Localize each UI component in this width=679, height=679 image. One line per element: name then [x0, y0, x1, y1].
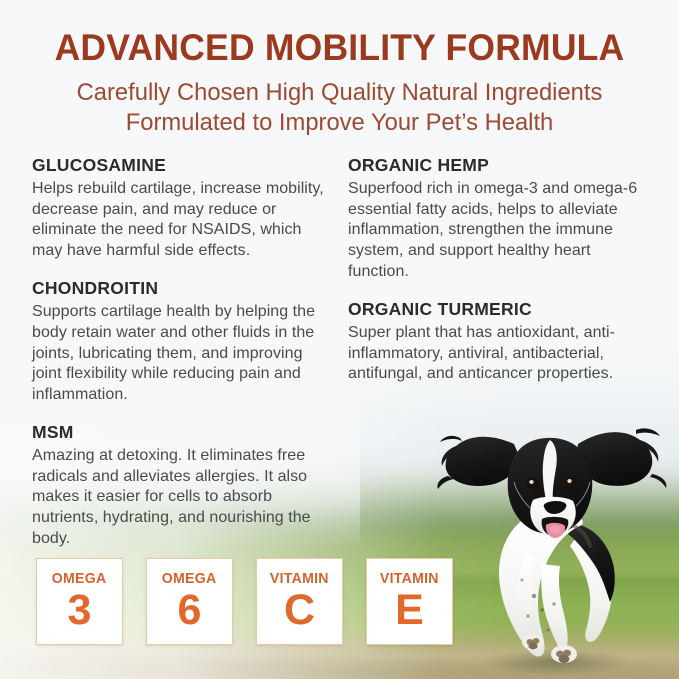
badge-vitamin-c: VITAMIN C: [256, 558, 343, 645]
ingredient-heading: ORGANIC TURMERIC: [348, 299, 648, 321]
ingredient-heading: CHONDROITIN: [32, 278, 324, 300]
badge-value: 3: [68, 589, 92, 632]
ingredient-body: Amazing at detoxing. It eliminates free …: [32, 446, 324, 550]
subtitle-line-1: Carefully Chosen High Quality Natural In…: [10, 78, 669, 108]
ingredient-organic-hemp: ORGANIC HEMP Superfood rich in omega-3 a…: [348, 155, 648, 283]
page-subtitle: Carefully Chosen High Quality Natural In…: [10, 78, 669, 138]
ingredient-body: Supports cartilage health by helping the…: [32, 302, 324, 406]
ingredient-chondroitin: CHONDROITIN Supports cartilage health by…: [32, 278, 324, 406]
badge-vitamin-e: VITAMIN E: [366, 558, 453, 645]
ingredient-heading: GLUCOSAMINE: [32, 155, 324, 177]
ingredient-body: Helps rebuild cartilage, increase mobili…: [32, 179, 324, 262]
page-title: ADVANCED MOBILITY FORMULA: [14, 28, 666, 67]
headline-block: ADVANCED MOBILITY FORMULA Carefully Chos…: [0, 28, 679, 138]
badge-omega-3: OMEGA 3: [36, 558, 123, 645]
product-infographic: ADVANCED MOBILITY FORMULA Carefully Chos…: [0, 0, 679, 679]
ingredient-heading: ORGANIC HEMP: [348, 155, 648, 177]
badge-label: VITAMIN: [380, 571, 439, 586]
badge-omega-6: OMEGA 6: [146, 558, 233, 645]
ingredient-glucosamine: GLUCOSAMINE Helps rebuild cartilage, inc…: [32, 155, 324, 262]
badge-value: 6: [178, 589, 202, 632]
left-column: GLUCOSAMINE Helps rebuild cartilage, inc…: [32, 155, 324, 550]
ingredient-body: Superfood rich in omega-3 and omega-6 es…: [348, 179, 648, 283]
ingredient-body: Super plant that has antioxidant, anti-i…: [348, 323, 648, 385]
badge-value: C: [284, 589, 315, 632]
right-column: ORGANIC HEMP Superfood rich in omega-3 a…: [348, 155, 648, 385]
ingredient-organic-turmeric: ORGANIC TURMERIC Super plant that has an…: [348, 299, 648, 385]
badge-label: VITAMIN: [270, 571, 329, 586]
badge-label: OMEGA: [162, 571, 217, 586]
ingredient-heading: MSM: [32, 422, 324, 444]
badge-label: OMEGA: [52, 571, 107, 586]
ingredient-msm: MSM Amazing at detoxing. It eliminates f…: [32, 422, 324, 550]
nutrient-badge-row: OMEGA 3 OMEGA 6 VITAMIN C VITAMIN E: [36, 558, 453, 645]
badge-value: E: [395, 589, 424, 632]
subtitle-line-2: Formulated to Improve Your Pet’s Health: [10, 108, 669, 138]
